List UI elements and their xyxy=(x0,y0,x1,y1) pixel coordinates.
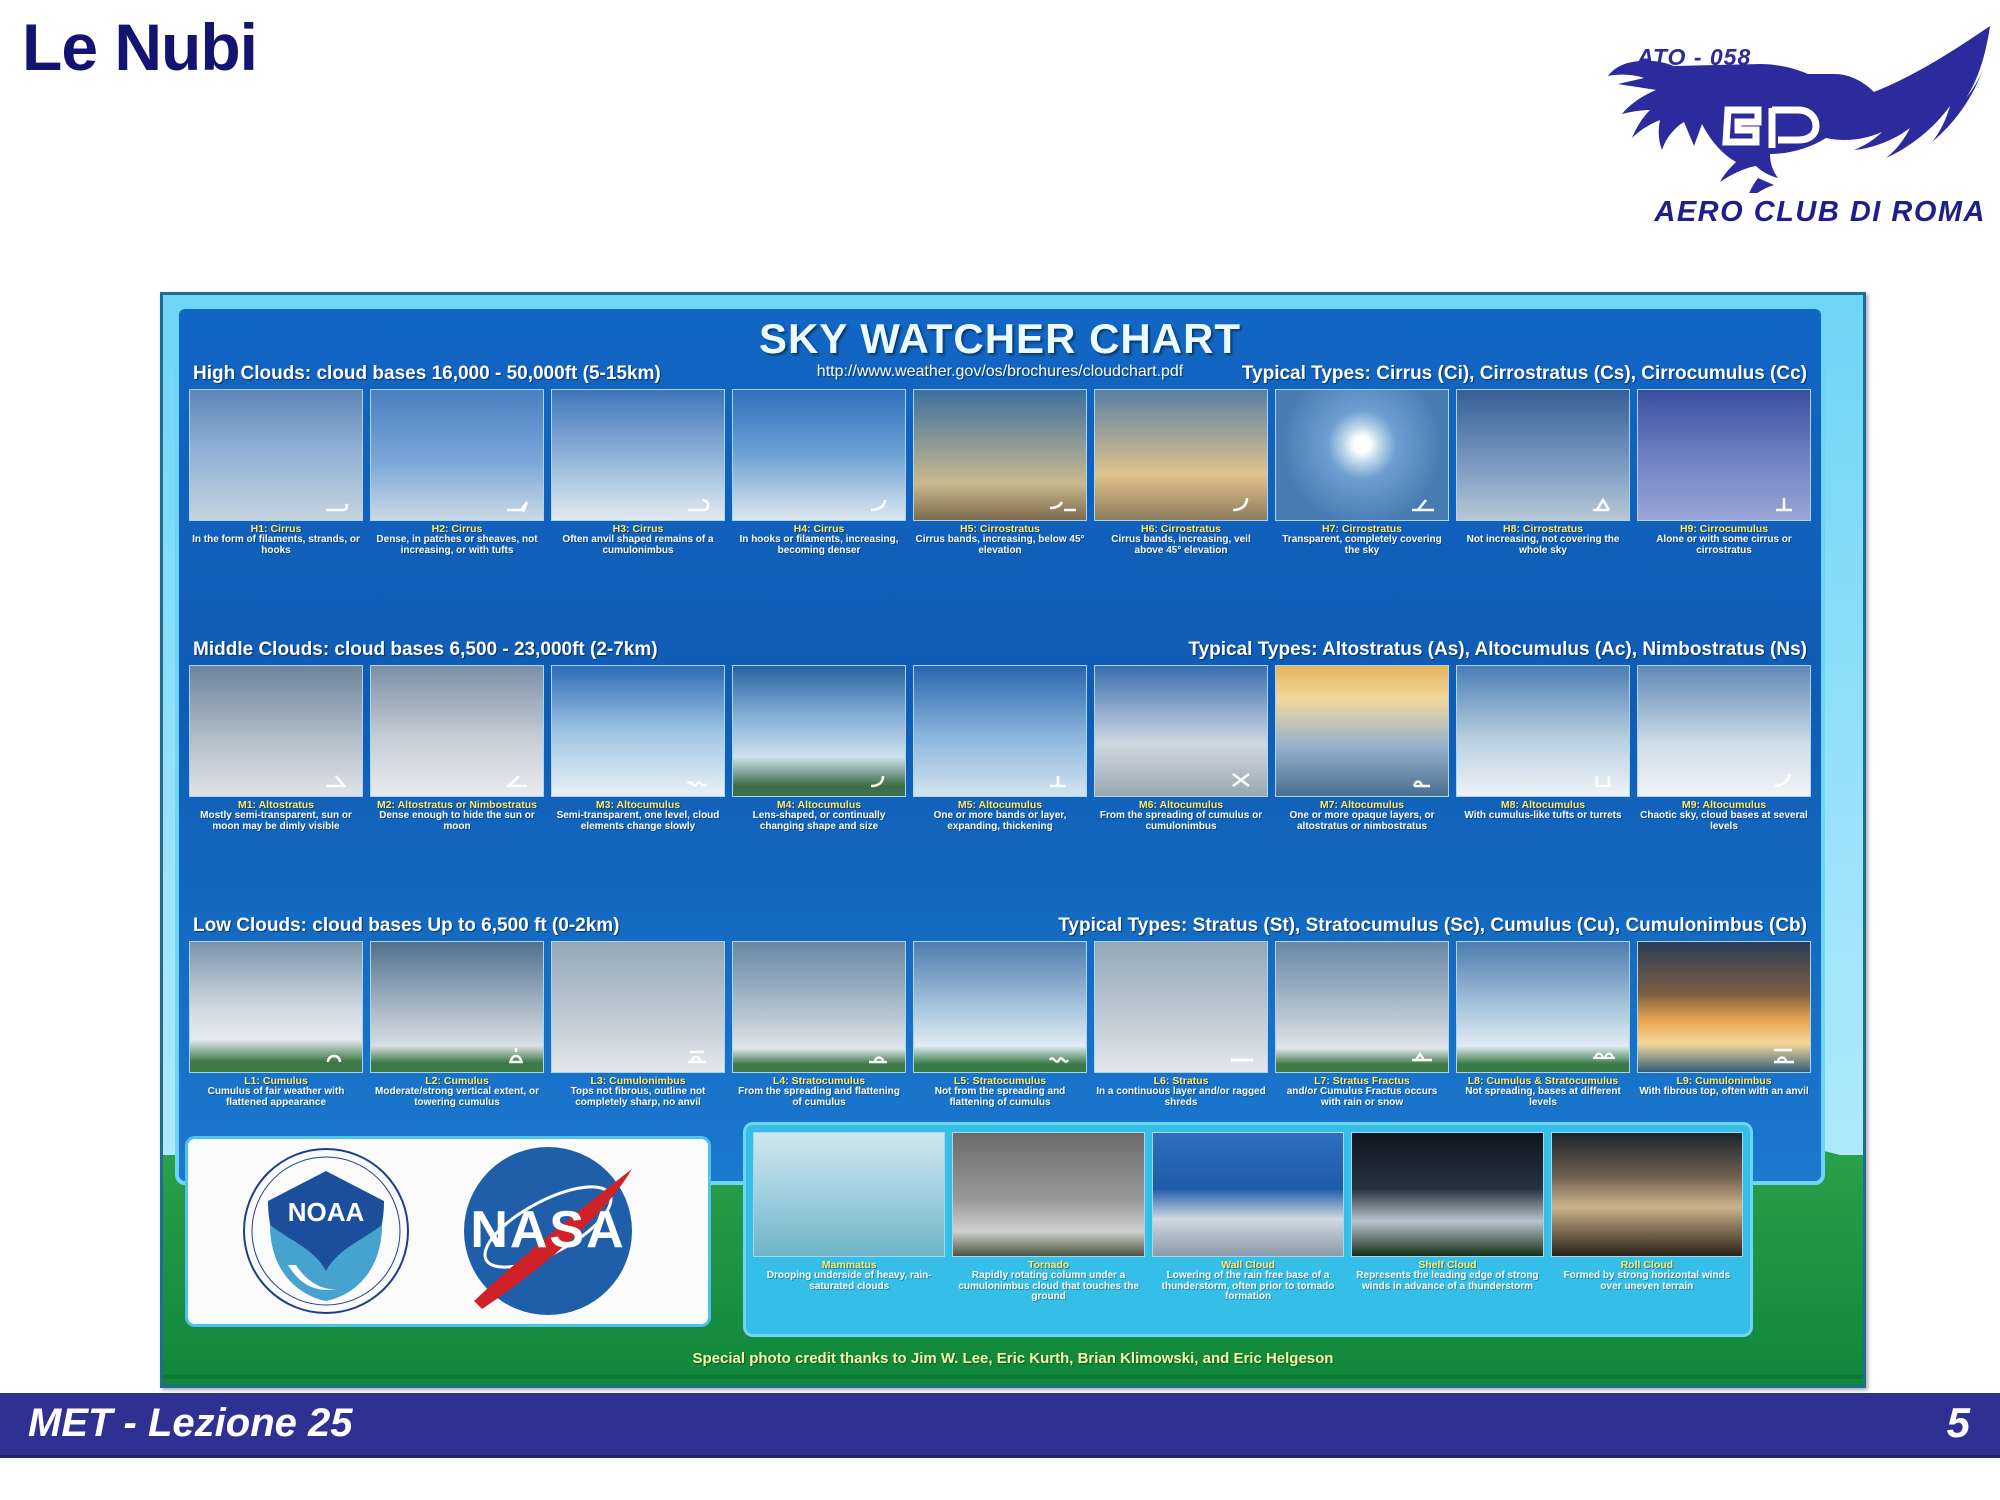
cloud-cell: H8: CirrostratusNot increasing, not cove… xyxy=(1456,389,1630,556)
cloud-cell: L4: StratocumulusFrom the spreading and … xyxy=(732,941,906,1108)
sky-watcher-chart-image: SKY WATCHER CHART High Clouds: cloud bas… xyxy=(160,292,1866,1388)
cloud-desc: One or more bands or layer, expanding, t… xyxy=(915,811,1085,832)
cloud-symbol-icon xyxy=(324,492,354,514)
cloud-desc: From the spreading and flattening of cum… xyxy=(734,1087,904,1108)
special-cloud-desc: Lowering of the rain free base of a thun… xyxy=(1154,1271,1342,1303)
cloud-desc: In a continuous layer and/or ragged shre… xyxy=(1096,1087,1266,1108)
cloud-cell: L6: StratusIn a continuous layer and/or … xyxy=(1094,941,1268,1108)
special-cloud-photo xyxy=(1351,1132,1543,1257)
cloud-caption: L5: StratocumulusNot from the spreading … xyxy=(913,1073,1087,1108)
cloud-symbol-icon xyxy=(505,768,535,790)
cloud-cell: H5: CirrostratusCirrus bands, increasing… xyxy=(913,389,1087,556)
band-low-header: Low Clouds: cloud bases Up to 6,500 ft (… xyxy=(189,915,1811,941)
cloud-caption: H6: CirrostratusCirrus bands, increasing… xyxy=(1094,521,1268,556)
cloud-desc: Dense enough to hide the sun or moon xyxy=(372,811,542,832)
cloud-photo xyxy=(1094,389,1268,521)
special-cloud-cell: Roll CloudFormed by strong horizontal wi… xyxy=(1551,1132,1743,1327)
cloud-caption: L4: StratocumulusFrom the spreading and … xyxy=(732,1073,906,1108)
special-cloud-caption: TornadoRapidly rotating column under a c… xyxy=(952,1257,1144,1303)
cloud-cell: M7: AltocumulusOne or more opaque layers… xyxy=(1275,665,1449,832)
cloud-desc: Often anvil shaped remains of a cumuloni… xyxy=(553,535,723,556)
cloud-symbol-icon xyxy=(1229,768,1259,790)
cloud-cell: L9: CumulonimbusWith fibrous top, often … xyxy=(1637,941,1811,1108)
cloud-desc: Tops not fibrous, outline not completely… xyxy=(553,1087,723,1108)
cloud-desc: In the form of filaments, strands, or ho… xyxy=(191,535,361,556)
cloud-cell: H3: CirrusOften anvil shaped remains of … xyxy=(551,389,725,556)
slide-footer: MET - Lezione 25 5 xyxy=(0,1393,2000,1458)
band-high-right-label: Typical Types: Cirrus (Ci), Cirrostratus… xyxy=(1242,363,1807,385)
special-cloud-cell: MammatusDrooping underside of heavy, rai… xyxy=(753,1132,945,1327)
cloud-cell: L3: CumulonimbusTops not fibrous, outlin… xyxy=(551,941,725,1108)
cloud-photo xyxy=(1456,941,1630,1073)
cloud-cell: L1: CumulusCumulus of fair weather with … xyxy=(189,941,363,1108)
cloud-cell: M8: AltocumulusWith cumulus-like tufts o… xyxy=(1456,665,1630,832)
cloud-caption: H4: CirrusIn hooks or filaments, increas… xyxy=(732,521,906,556)
cloud-symbol-icon xyxy=(1772,1044,1802,1066)
cloud-photo xyxy=(1275,389,1449,521)
band-low-clouds: Low Clouds: cloud bases Up to 6,500 ft (… xyxy=(189,915,1811,1108)
cloud-symbol-icon xyxy=(1591,492,1621,514)
cloud-photo xyxy=(1637,665,1811,797)
cloud-desc: Chaotic sky, cloud bases at several leve… xyxy=(1639,811,1809,832)
chart-url[interactable]: http://www.weather.gov/os/brochures/clou… xyxy=(817,363,1183,381)
cloud-symbol-icon xyxy=(324,1044,354,1066)
cloud-caption: M7: AltocumulusOne or more opaque layers… xyxy=(1275,797,1449,832)
cloud-desc: With cumulus-like tufts or turrets xyxy=(1458,811,1628,822)
cloud-symbol-icon xyxy=(1048,768,1078,790)
cloud-cell: L5: StratocumulusNot from the spreading … xyxy=(913,941,1087,1108)
cloud-symbol-icon xyxy=(1410,492,1440,514)
cloud-desc: Dense, in patches or sheaves, not increa… xyxy=(372,535,542,556)
special-cloud-caption: Shelf CloudRepresents the leading edge o… xyxy=(1351,1257,1543,1292)
cloud-caption: H1: CirrusIn the form of filaments, stra… xyxy=(189,521,363,556)
footer-page-number: 5 xyxy=(1947,1399,1970,1447)
band-low-right-label: Typical Types: Stratus (St), Stratocumul… xyxy=(1058,915,1807,937)
cloud-photo xyxy=(1456,665,1630,797)
cloud-desc: Semi-transparent, one level, cloud eleme… xyxy=(553,811,723,832)
cloud-photo xyxy=(913,665,1087,797)
cloud-desc: Alone or with some cirrus or cirrostratu… xyxy=(1639,535,1809,556)
cloud-cell: H7: CirrostratusTransparent, completely … xyxy=(1275,389,1449,556)
cloud-desc: Cumulus of fair weather with flattened a… xyxy=(191,1087,361,1108)
cloud-caption: H7: CirrostratusTransparent, completely … xyxy=(1275,521,1449,556)
special-cloud-desc: Formed by strong horizontal winds over u… xyxy=(1553,1271,1741,1292)
special-cloud-cell: Shelf CloudRepresents the leading edge o… xyxy=(1351,1132,1543,1327)
band-low-cells: L1: CumulusCumulus of fair weather with … xyxy=(189,941,1811,1108)
cloud-desc: Cirrus bands, increasing, veil above 45°… xyxy=(1096,535,1266,556)
club-name-label: AERO CLUB DI ROMA xyxy=(1522,196,1986,229)
cloud-caption: M5: AltocumulusOne or more bands or laye… xyxy=(913,797,1087,832)
cloud-caption: M3: AltocumulusSemi-transparent, one lev… xyxy=(551,797,725,832)
cloud-cell: H6: CirrostratusCirrus bands, increasing… xyxy=(1094,389,1268,556)
cloud-caption: M4: AltocumulusLens-shaped, or continual… xyxy=(732,797,906,832)
cloud-caption: L8: Cumulus & StratocumulusNot spreading… xyxy=(1456,1073,1630,1108)
cloud-symbol-icon xyxy=(686,1044,716,1066)
cloud-desc: Not from the spreading and flattening of… xyxy=(915,1087,1085,1108)
cloud-symbol-icon xyxy=(505,1044,535,1066)
cloud-photo xyxy=(732,941,906,1073)
cloud-photo xyxy=(913,941,1087,1073)
cloud-caption: L9: CumulonimbusWith fibrous top, often … xyxy=(1637,1073,1811,1098)
cloud-photo xyxy=(370,941,544,1073)
cloud-photo xyxy=(732,389,906,521)
band-high-cells: H1: CirrusIn the form of filaments, stra… xyxy=(189,389,1811,556)
special-cloud-photo xyxy=(753,1132,945,1257)
cloud-symbol-icon xyxy=(1772,768,1802,790)
cloud-caption: H5: CirrostratusCirrus bands, increasing… xyxy=(913,521,1087,556)
cloud-cell: L8: Cumulus & StratocumulusNot spreading… xyxy=(1456,941,1630,1108)
band-low-left-label: Low Clouds: cloud bases Up to 6,500 ft (… xyxy=(193,915,620,937)
cloud-photo xyxy=(189,665,363,797)
aero-club-logo: ATO - 058 AERO CLUB DI ROMA xyxy=(1522,18,1992,228)
cloud-desc: Not increasing, not covering the whole s… xyxy=(1458,535,1628,556)
cloud-cell: H1: CirrusIn the form of filaments, stra… xyxy=(189,389,363,556)
band-middle-right-label: Typical Types: Altostratus (As), Altocum… xyxy=(1188,639,1807,661)
cloud-desc: In hooks or filaments, increasing, becom… xyxy=(734,535,904,556)
cloud-photo xyxy=(913,389,1087,521)
cloud-symbol-icon xyxy=(505,492,535,514)
cloud-desc: From the spreading of cumulus or cumulon… xyxy=(1096,811,1266,832)
cloud-cell: M1: AltostratusMostly semi-transparent, … xyxy=(189,665,363,832)
cloud-caption: M9: AltocumulusChaotic sky, cloud bases … xyxy=(1637,797,1811,832)
cloud-desc: and/or Cumulus Fractus occurs with rain … xyxy=(1277,1087,1447,1108)
cloud-symbol-icon xyxy=(686,492,716,514)
svg-text:NOAA: NOAA xyxy=(288,1197,365,1227)
special-cloud-cell: Wall CloudLowering of the rain free base… xyxy=(1152,1132,1344,1327)
cloud-symbol-icon xyxy=(686,768,716,790)
cloud-symbol-icon xyxy=(1591,768,1621,790)
cloud-photo xyxy=(1637,941,1811,1073)
cloud-symbol-icon xyxy=(1229,1044,1259,1066)
cloud-cell: M6: AltocumulusFrom the spreading of cum… xyxy=(1094,665,1268,832)
cloud-photo xyxy=(732,665,906,797)
band-high-left-label: High Clouds: cloud bases 16,000 - 50,000… xyxy=(193,363,661,385)
cloud-caption: L6: StratusIn a continuous layer and/or … xyxy=(1094,1073,1268,1108)
band-middle-left-label: Middle Clouds: cloud bases 6,500 - 23,00… xyxy=(193,639,658,661)
cloud-cell: M5: AltocumulusOne or more bands or laye… xyxy=(913,665,1087,832)
special-clouds-row: MammatusDrooping underside of heavy, rai… xyxy=(743,1122,1753,1337)
page-title: Le Nubi xyxy=(22,14,257,80)
special-cloud-photo xyxy=(1152,1132,1344,1257)
cloud-photo xyxy=(189,941,363,1073)
cloud-cell: H4: CirrusIn hooks or filaments, increas… xyxy=(732,389,906,556)
band-high-header: High Clouds: cloud bases 16,000 - 50,000… xyxy=(189,363,1811,389)
cloud-photo xyxy=(370,389,544,521)
cloud-caption: H8: CirrostratusNot increasing, not cove… xyxy=(1456,521,1630,556)
cloud-desc: Lens-shaped, or continually changing sha… xyxy=(734,811,904,832)
cloud-desc: Not spreading, bases at different levels xyxy=(1458,1087,1628,1108)
special-cloud-desc: Drooping underside of heavy, rain-satura… xyxy=(755,1271,943,1292)
special-cloud-desc: Rapidly rotating column under a cumuloni… xyxy=(954,1271,1142,1303)
cloud-symbol-icon xyxy=(867,1044,897,1066)
cloud-desc: One or more opaque layers, or altostratu… xyxy=(1277,811,1447,832)
band-middle-header: Middle Clouds: cloud bases 6,500 - 23,00… xyxy=(189,639,1811,665)
chart-title: SKY WATCHER CHART xyxy=(179,315,1821,363)
cloud-caption: M1: AltostratusMostly semi-transparent, … xyxy=(189,797,363,832)
cloud-desc: With fibrous top, often with an anvil xyxy=(1639,1087,1809,1098)
cloud-photo xyxy=(1275,941,1449,1073)
cloud-symbol-icon xyxy=(867,768,897,790)
cloud-desc: Moderate/strong vertical extent, or towe… xyxy=(372,1087,542,1108)
cloud-cell: L7: Stratus Fractusand/or Cumulus Fractu… xyxy=(1275,941,1449,1108)
cloud-symbol-icon xyxy=(1591,1044,1621,1066)
cloud-symbol-icon xyxy=(1229,492,1259,514)
cloud-cell: M2: Altostratus or NimbostratusDense eno… xyxy=(370,665,544,832)
cloud-caption: M6: AltocumulusFrom the spreading of cum… xyxy=(1094,797,1268,832)
cloud-desc: Mostly semi-transparent, sun or moon may… xyxy=(191,811,361,832)
nasa-logo-icon: NASA xyxy=(464,1147,632,1315)
cloud-caption: H9: CirrocumulusAlone or with some cirru… xyxy=(1637,521,1811,556)
cloud-caption: L1: CumulusCumulus of fair weather with … xyxy=(189,1073,363,1108)
cloud-cell: H2: CirrusDense, in patches or sheaves, … xyxy=(370,389,544,556)
cloud-photo xyxy=(551,665,725,797)
cloud-caption: L3: CumulonimbusTops not fibrous, outlin… xyxy=(551,1073,725,1108)
cloud-photo xyxy=(189,389,363,521)
special-cloud-photo xyxy=(1551,1132,1743,1257)
special-cloud-caption: Wall CloudLowering of the rain free base… xyxy=(1152,1257,1344,1303)
cloud-caption: L2: CumulusModerate/strong vertical exte… xyxy=(370,1073,544,1108)
cloud-caption: H2: CirrusDense, in patches or sheaves, … xyxy=(370,521,544,556)
cloud-caption: H3: CirrusOften anvil shaped remains of … xyxy=(551,521,725,556)
cloud-desc: Transparent, completely covering the sky xyxy=(1277,535,1447,556)
special-cloud-cell: TornadoRapidly rotating column under a c… xyxy=(952,1132,1144,1327)
cloud-symbol-icon xyxy=(1410,768,1440,790)
cloud-cell: M9: AltocumulusChaotic sky, cloud bases … xyxy=(1637,665,1811,832)
svg-text:NASA: NASA xyxy=(470,1201,625,1259)
cloud-caption: M2: Altostratus or NimbostratusDense eno… xyxy=(370,797,544,832)
band-high-clouds: High Clouds: cloud bases 16,000 - 50,000… xyxy=(189,363,1811,556)
cloud-photo xyxy=(1456,389,1630,521)
noaa-logo-icon: NOAA xyxy=(244,1149,408,1313)
cloud-symbol-icon xyxy=(1048,1044,1078,1066)
cloud-photo xyxy=(551,389,725,521)
cloud-cell: M3: AltocumulusSemi-transparent, one lev… xyxy=(551,665,725,832)
special-cloud-caption: Roll CloudFormed by strong horizontal wi… xyxy=(1551,1257,1743,1292)
photo-credit-text: Special photo credit thanks to Jim W. Le… xyxy=(163,1350,1863,1367)
special-cloud-caption: MammatusDrooping underside of heavy, rai… xyxy=(753,1257,945,1292)
cloud-caption: M8: AltocumulusWith cumulus-like tufts o… xyxy=(1456,797,1630,822)
cloud-symbol-icon xyxy=(867,492,897,514)
cloud-symbol-icon xyxy=(324,768,354,790)
special-cloud-desc: Represents the leading edge of strong wi… xyxy=(1353,1271,1541,1292)
cloud-symbol-icon xyxy=(1410,1044,1440,1066)
band-middle-cells: M1: AltostratusMostly semi-transparent, … xyxy=(189,665,1811,832)
cloud-photo xyxy=(1275,665,1449,797)
cloud-photo xyxy=(1637,389,1811,521)
cloud-desc: Cirrus bands, increasing, below 45° elev… xyxy=(915,535,1085,556)
cloud-symbol-icon xyxy=(1772,492,1802,514)
cloud-caption: L7: Stratus Fractusand/or Cumulus Fractu… xyxy=(1275,1073,1449,1108)
eagle-icon xyxy=(1522,18,1992,193)
footer-lesson-label: MET - Lezione 25 xyxy=(28,1401,353,1446)
cloud-symbol-icon xyxy=(1048,492,1078,514)
cloud-cell: M4: AltocumulusLens-shaped, or continual… xyxy=(732,665,906,832)
band-middle-clouds: Middle Clouds: cloud bases 6,500 - 23,00… xyxy=(189,639,1811,832)
cloud-photo xyxy=(1094,941,1268,1073)
cloud-cell: H9: CirrocumulusAlone or with some cirru… xyxy=(1637,389,1811,556)
cloud-photo xyxy=(370,665,544,797)
cloud-photo xyxy=(551,941,725,1073)
agency-logos-panel: NOAA NASA xyxy=(185,1136,711,1327)
cloud-cell: L2: CumulusModerate/strong vertical exte… xyxy=(370,941,544,1108)
special-cloud-photo xyxy=(952,1132,1144,1257)
cloud-bands-panel: SKY WATCHER CHART High Clouds: cloud bas… xyxy=(175,305,1825,1185)
cloud-photo xyxy=(1094,665,1268,797)
